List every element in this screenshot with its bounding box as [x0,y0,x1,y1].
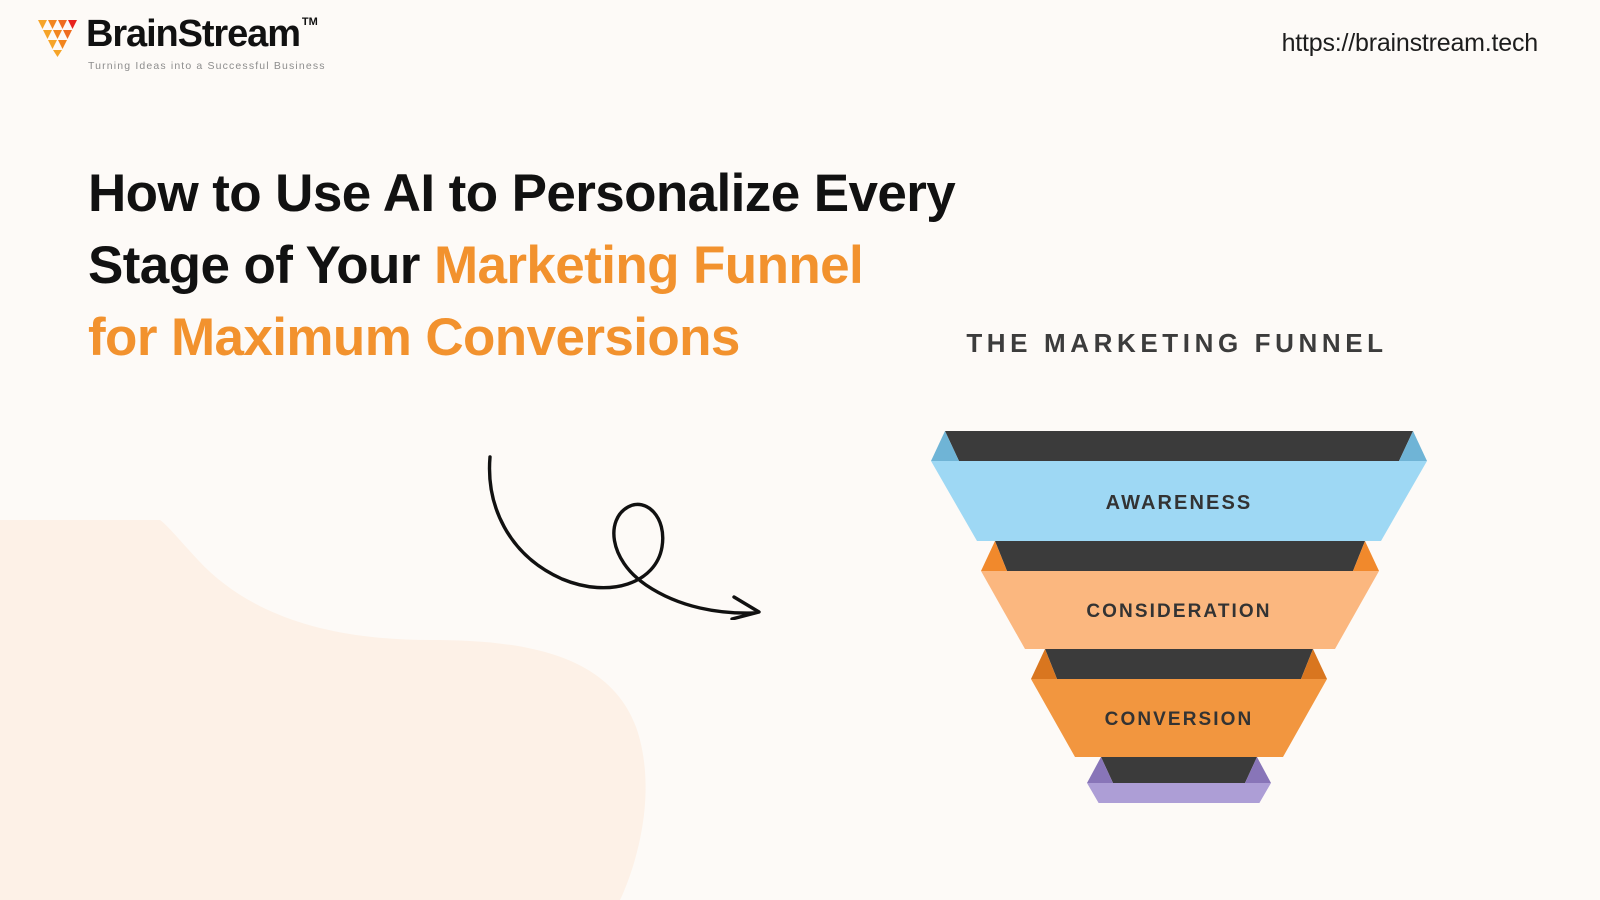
brand-logo[interactable]: BrainStream TM Turning Ideas into a Succ… [0,0,326,72]
funnel-stage-conversion[interactable]: CONVERSION [1031,649,1327,757]
funnel-stage-conversion-shadow [1045,649,1313,679]
logo-tagline: Turning Ideas into a Successful Business [88,60,326,72]
headline-line-2-plain: Stage of Your [88,236,434,295]
triangular-grid-logo-icon [34,18,80,58]
marketing-funnel-diagram: THE MARKETING FUNNEL AWARENESS CONSIDERA… [905,328,1445,828]
funnel-stage-consideration-label: CONSIDERATION [1086,601,1271,622]
logo-text-group: BrainStream TM Turning Ideas into a Succ… [86,14,326,72]
funnel-stage-loyalty-shadow [1101,757,1257,783]
headline-line-3-accent: for Maximum Conversions [88,308,740,367]
curved-loop-arrow-icon [470,435,790,620]
page-header: BrainStream TM Turning Ideas into a Succ… [0,0,1600,96]
headline-line-1: How to Use AI to Personalize Every [88,164,955,223]
headline-line-2-accent: Marketing Funnel [434,236,863,295]
page-title: How to Use AI to Personalize Every Stage… [88,158,1048,374]
funnel-stage-consideration[interactable]: CONSIDERATION [981,541,1379,649]
funnel-stage-awareness-label: AWARENESS [1106,492,1253,514]
funnel-stage-conversion-label: CONVERSION [1105,709,1254,730]
arrow-head-path [732,597,759,619]
funnel-title: THE MARKETING FUNNEL [909,328,1445,359]
logo-wordmark: BrainStream [86,14,300,54]
funnel-stage-loyalty[interactable]: LOYALTY [1087,757,1271,803]
funnel-stage-awareness-shadow [945,431,1413,461]
funnel-stage-loyalty-band [1087,783,1271,803]
trademark-symbol: TM [302,16,318,28]
funnel-svg: AWARENESS CONSIDERATION CONVERSION LOYAL… [905,383,1445,803]
site-url-link[interactable]: https://brainstream.tech [1282,0,1600,58]
funnel-stage-awareness[interactable]: AWARENESS [931,431,1427,541]
logo-wordmark-row: BrainStream TM [86,14,326,54]
funnel-stage-consideration-shadow [995,541,1365,571]
arrow-curve-path [490,457,754,613]
